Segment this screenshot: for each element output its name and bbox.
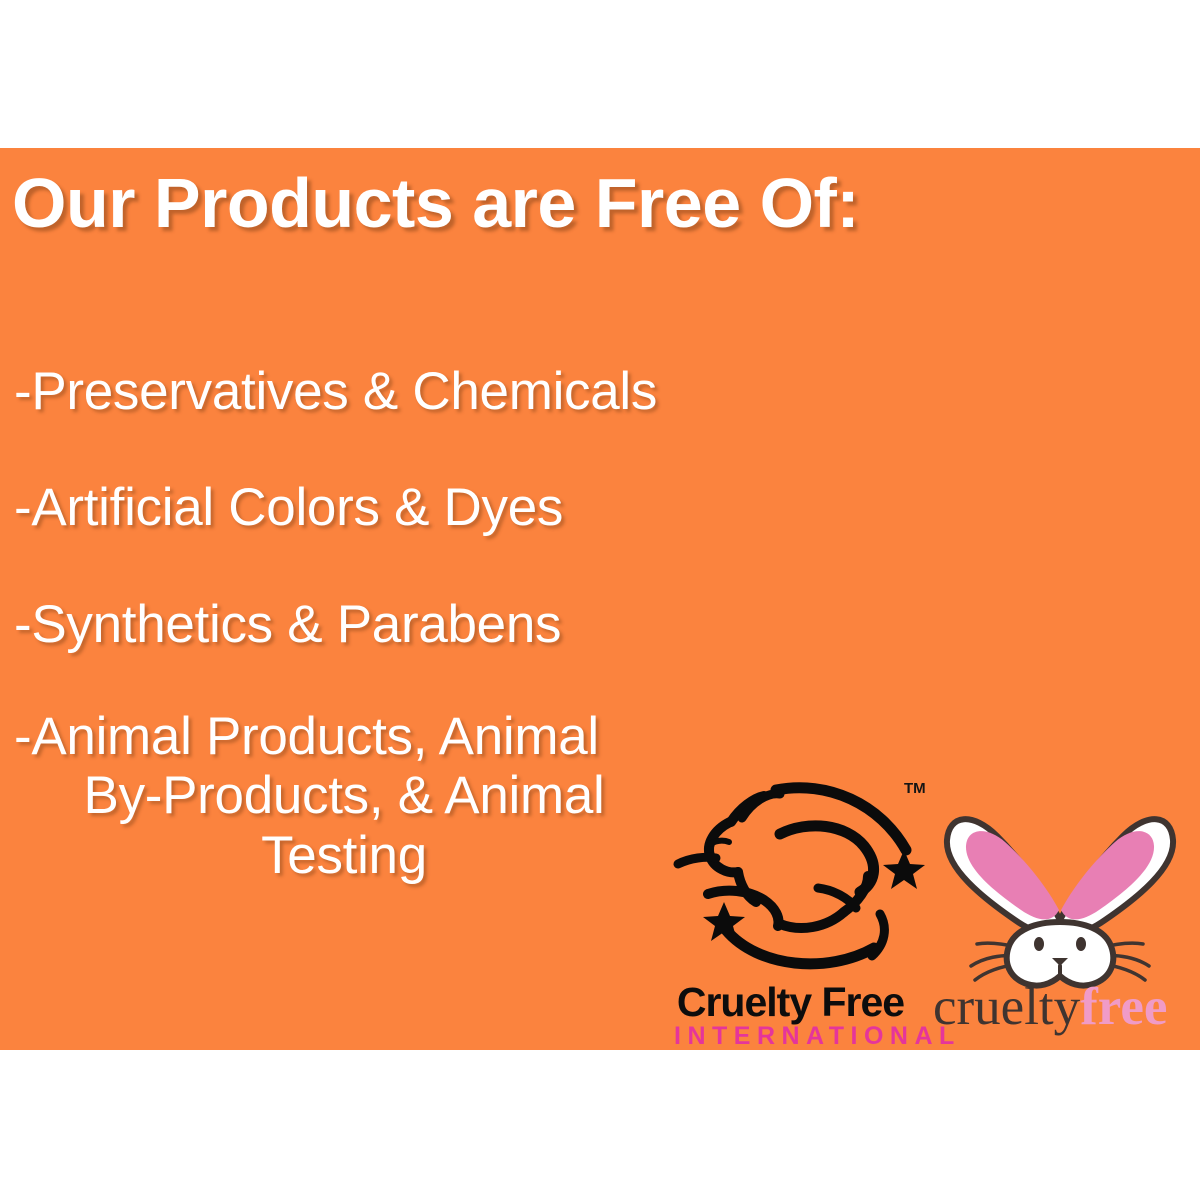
trademark-symbol: TM [904, 780, 926, 797]
star-icon [883, 850, 925, 889]
logo-word-free: free [1080, 978, 1167, 1036]
logo-wordmark: crueltyfree [933, 981, 1167, 1034]
page-title: Our Products are Free Of: [12, 168, 859, 238]
leaping-bunny-icon [668, 772, 930, 984]
list-item: -Animal Products, Animal By-Products, & … [14, 707, 674, 885]
list-item: -Preservatives & Chemicals [14, 362, 674, 421]
list-item: -Artificial Colors & Dyes [14, 478, 674, 537]
logo-subtitle: INTERNATIONAL [668, 1024, 913, 1049]
list-item: -Synthetics & Parabens [14, 595, 674, 654]
list-item-line: Testing [14, 826, 674, 885]
cruelty-free-international-logo: TM Cruelty Free INTERNATIONAL [668, 772, 930, 1057]
cruelty-free-logo: crueltyfree [935, 768, 1200, 1058]
eye-icon [1076, 937, 1086, 951]
heart-eared-bunny-icon [935, 768, 1185, 990]
free-of-list: -Preservatives & Chemicals -Artificial C… [14, 362, 674, 885]
logo-name: Cruelty Free [668, 982, 913, 1023]
list-item-line: By-Products, & Animal [14, 766, 674, 825]
eye-icon [1034, 937, 1044, 951]
logo-word-cruelty: cruelty [933, 978, 1080, 1036]
poster-canvas: Our Products are Free Of: -Preservatives… [0, 0, 1200, 1200]
list-item-line: -Animal Products, Animal [14, 707, 674, 766]
